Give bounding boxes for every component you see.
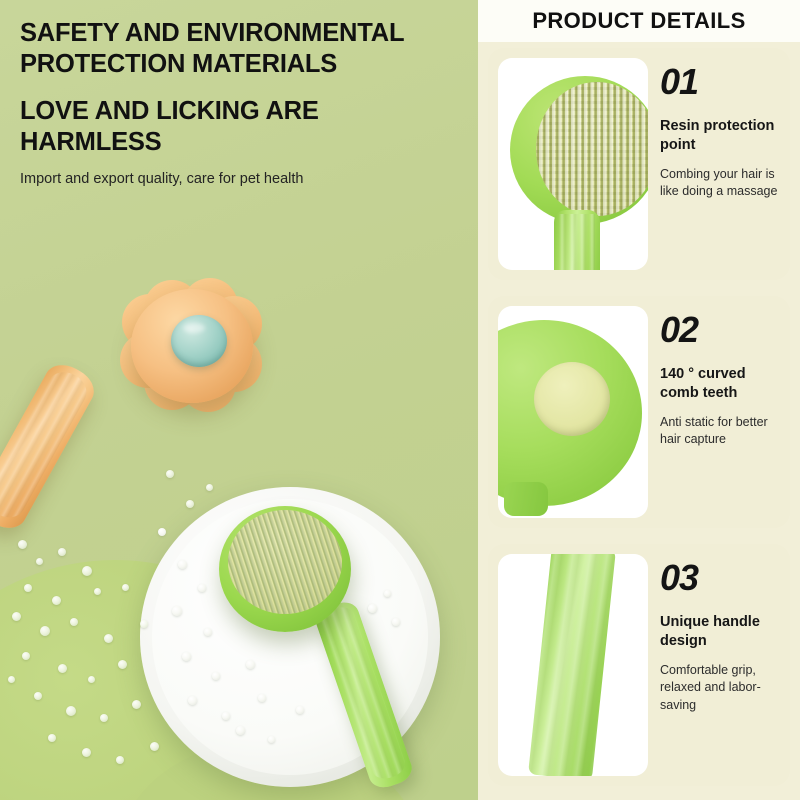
brush-handle-photo xyxy=(528,554,616,776)
brush-handle-stub xyxy=(554,210,600,270)
product-details-title: PRODUCT DETAILS xyxy=(532,8,745,34)
green-brush-product xyxy=(205,500,455,790)
brush-bristle-pad xyxy=(536,82,648,216)
detail-card-01-text: 01 Resin protection point Combing your h… xyxy=(660,64,784,201)
product-details-titlebar: PRODUCT DETAILS xyxy=(478,0,800,42)
hero-subtext: Import and export quality, care for pet … xyxy=(20,171,460,187)
orange-brush-head xyxy=(122,280,262,412)
brush-head-photo xyxy=(510,76,648,224)
green-brush-bristle-pad xyxy=(228,510,342,614)
green-brush-handle xyxy=(312,598,415,792)
detail-card-01-photo xyxy=(498,58,648,270)
brush-handle-nub xyxy=(504,482,548,516)
brush-back-core xyxy=(534,362,610,436)
detail-card-02-number: 02 xyxy=(660,312,784,348)
headline-line-2: PROTECTION MATERIALS xyxy=(20,50,337,78)
detail-card-02-description: Anti static for better hair capture xyxy=(660,414,784,449)
detail-card-01-number: 01 xyxy=(660,64,784,100)
product-details-panel: PRODUCT DETAILS 01 Resin protection poin… xyxy=(478,0,800,800)
detail-card-03-text: 03 Unique handle design Comfortable grip… xyxy=(660,560,784,714)
headline-secondary: LOVE AND LICKING ARE HARMLESS xyxy=(20,96,460,157)
detail-card-03-heading: Unique handle design xyxy=(660,613,784,650)
hero-headline-block: SAFETY AND ENVIRONMENTAL PROTECTION MATE… xyxy=(20,18,460,187)
detail-card-02: 02 140 ° curved comb teeth Anti static f… xyxy=(488,296,790,528)
green-brush-head xyxy=(219,506,351,632)
product-detail-poster: SAFETY AND ENVIRONMENTAL PROTECTION MATE… xyxy=(0,0,800,800)
detail-card-03-number: 03 xyxy=(660,560,784,596)
brush-pins-texture xyxy=(536,82,648,216)
orange-brush-handle xyxy=(0,357,101,535)
detail-card-01-heading: Resin protection point xyxy=(660,117,784,154)
green-brush-pins-highlight xyxy=(228,510,342,614)
headline-line-1: SAFETY AND ENVIRONMENTAL xyxy=(20,19,404,47)
detail-card-02-text: 02 140 ° curved comb teeth Anti static f… xyxy=(660,312,784,449)
detail-card-03-description: Comfortable grip, relaxed and labor-savi… xyxy=(660,662,784,714)
orange-brush-disc xyxy=(131,289,253,403)
orange-brush-release-button xyxy=(171,315,227,367)
headline-primary: SAFETY AND ENVIRONMENTAL PROTECTION MATE… xyxy=(20,18,460,80)
detail-card-02-photo xyxy=(498,306,648,518)
detail-card-03-photo xyxy=(498,554,648,776)
detail-card-02-heading: 140 ° curved comb teeth xyxy=(660,365,784,402)
detail-card-01-description: Combing your hair is like doing a massag… xyxy=(660,166,784,201)
left-hero-panel: SAFETY AND ENVIRONMENTAL PROTECTION MATE… xyxy=(0,0,478,800)
detail-card-01: 01 Resin protection point Combing your h… xyxy=(488,48,790,280)
detail-card-03: 03 Unique handle design Comfortable grip… xyxy=(488,544,790,786)
